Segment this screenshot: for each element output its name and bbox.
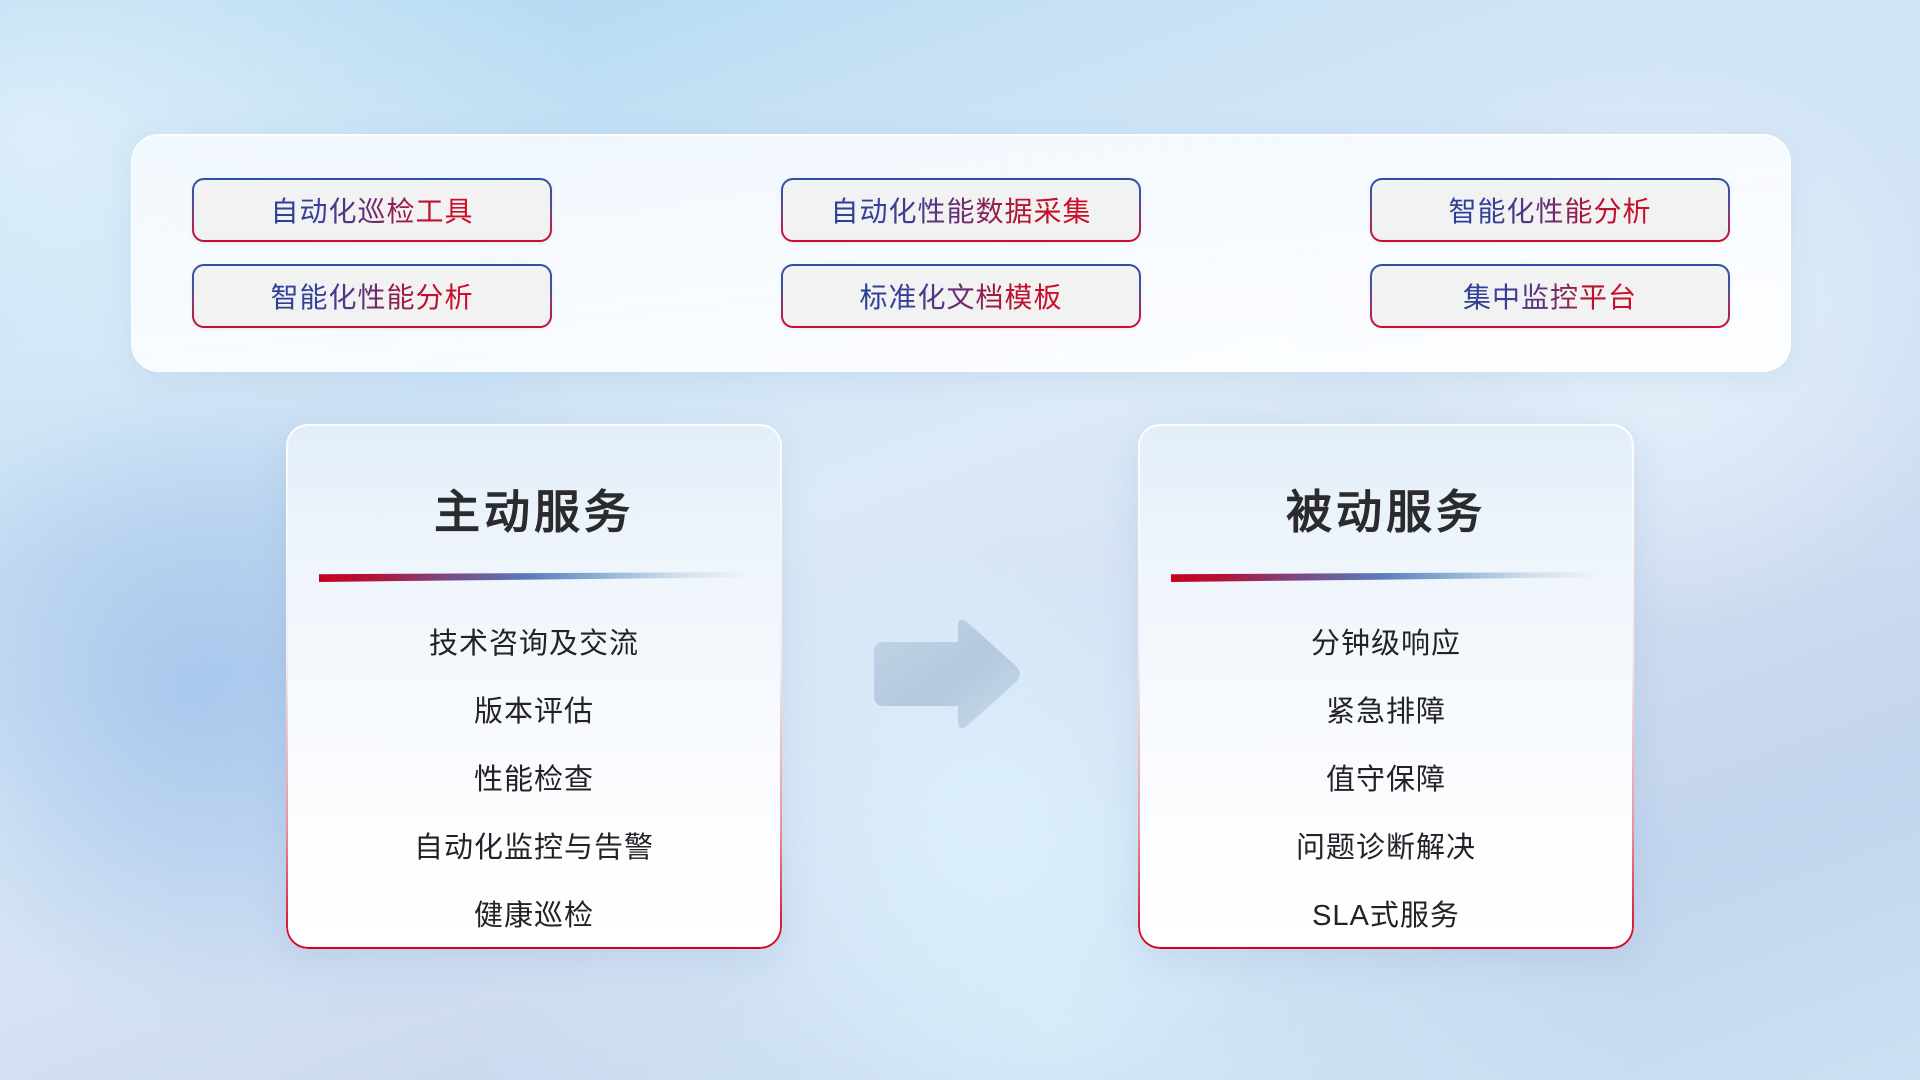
capability-pill-standardized-document-template[interactable]: 标准化文档模板 <box>781 264 1141 328</box>
arrow-right-icon <box>866 614 1024 734</box>
list-item: 问题诊断解决 <box>1296 824 1476 866</box>
capability-pill-automated-inspection-tool[interactable]: 自动化巡检工具 <box>192 178 552 242</box>
list-item: SLA式服务 <box>1312 892 1460 934</box>
card-title: 被动服务 <box>1138 476 1634 542</box>
list-item: 值守保障 <box>1326 756 1446 798</box>
service-list: 分钟级响应 紧急排障 值守保障 问题诊断解决 SLA式服务 <box>1138 620 1634 934</box>
capability-pill-label: 自动化性能数据采集 <box>830 190 1091 230</box>
capability-pill-label: 智能化性能分析 <box>270 276 473 316</box>
card-title-divider <box>319 572 749 582</box>
list-item: 健康巡检 <box>474 892 594 934</box>
capability-panel: 自动化巡检工具 自动化性能数据采集 智能化性能分析 智能化性能分析 标准化文档模… <box>131 134 1791 372</box>
capability-row-1: 自动化巡检工具 自动化性能数据采集 智能化性能分析 <box>192 178 1730 242</box>
card-title-divider <box>1171 572 1601 582</box>
service-card-proactive: 主动服务 技术咨询及交流 版本评估 性能检查 自动化监控与告警 健康巡检 <box>286 424 782 949</box>
list-item: 分钟级响应 <box>1311 620 1461 662</box>
capability-pill-automated-performance-data-collection[interactable]: 自动化性能数据采集 <box>781 178 1141 242</box>
capability-pill-intelligent-performance-analysis-top[interactable]: 智能化性能分析 <box>1370 178 1730 242</box>
list-item: 版本评估 <box>474 688 594 730</box>
capability-pill-label: 集中监控平台 <box>1463 276 1637 316</box>
service-list: 技术咨询及交流 版本评估 性能检查 自动化监控与告警 健康巡检 <box>286 620 782 934</box>
capability-pill-intelligent-performance-analysis[interactable]: 智能化性能分析 <box>192 264 552 328</box>
capability-row-2: 智能化性能分析 标准化文档模板 集中监控平台 <box>192 264 1730 328</box>
divider-bar <box>319 572 749 582</box>
capability-pill-label: 标准化文档模板 <box>859 276 1062 316</box>
capability-pill-label: 自动化巡检工具 <box>270 190 473 230</box>
list-item: 性能检查 <box>474 756 594 798</box>
capability-pill-label: 智能化性能分析 <box>1448 190 1651 230</box>
divider-bar <box>1171 572 1601 582</box>
list-item: 自动化监控与告警 <box>414 824 654 866</box>
list-item: 技术咨询及交流 <box>429 620 639 662</box>
list-item: 紧急排障 <box>1326 688 1446 730</box>
service-card-reactive: 被动服务 分钟级响应 紧急排障 值守保障 问题诊断解决 SLA式服务 <box>1138 424 1634 949</box>
capability-pill-centralized-monitoring-platform[interactable]: 集中监控平台 <box>1370 264 1730 328</box>
card-title: 主动服务 <box>286 476 782 542</box>
